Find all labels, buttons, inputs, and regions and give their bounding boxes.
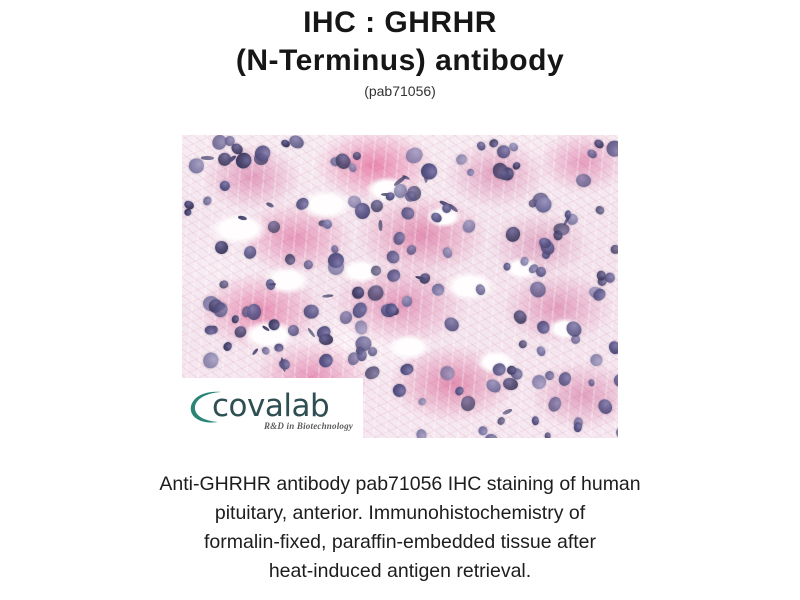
micrograph-figure: covalab R&D in Biotechnology: [182, 135, 618, 438]
caption-line-1: Anti-GHRHR antibody pab71056 IHC stainin…: [60, 470, 740, 499]
covalab-logo-watermark: covalab R&D in Biotechnology: [182, 378, 363, 438]
title-block: IHC : GHRHR (N-Terminus) antibody (pab71…: [0, 0, 800, 101]
figure-caption: Anti-GHRHR antibody pab71056 IHC stainin…: [60, 470, 740, 586]
catalog-number: (pab71056): [0, 81, 800, 101]
page-title-line-1: IHC : GHRHR: [0, 4, 800, 42]
page-title-line-2: (N-Terminus) antibody: [0, 42, 800, 80]
caption-line-3: formalin-fixed, paraffin-embedded tissue…: [60, 528, 740, 557]
caption-line-2: pituitary, anterior. Immunohistochemistr…: [60, 499, 740, 528]
caption-line-4: heat-induced antigen retrieval.: [60, 557, 740, 586]
logo-wordmark: covalab: [212, 387, 329, 425]
ihc-micrograph-image: covalab R&D in Biotechnology: [182, 135, 618, 438]
logo-mark-row: covalab: [182, 387, 363, 427]
